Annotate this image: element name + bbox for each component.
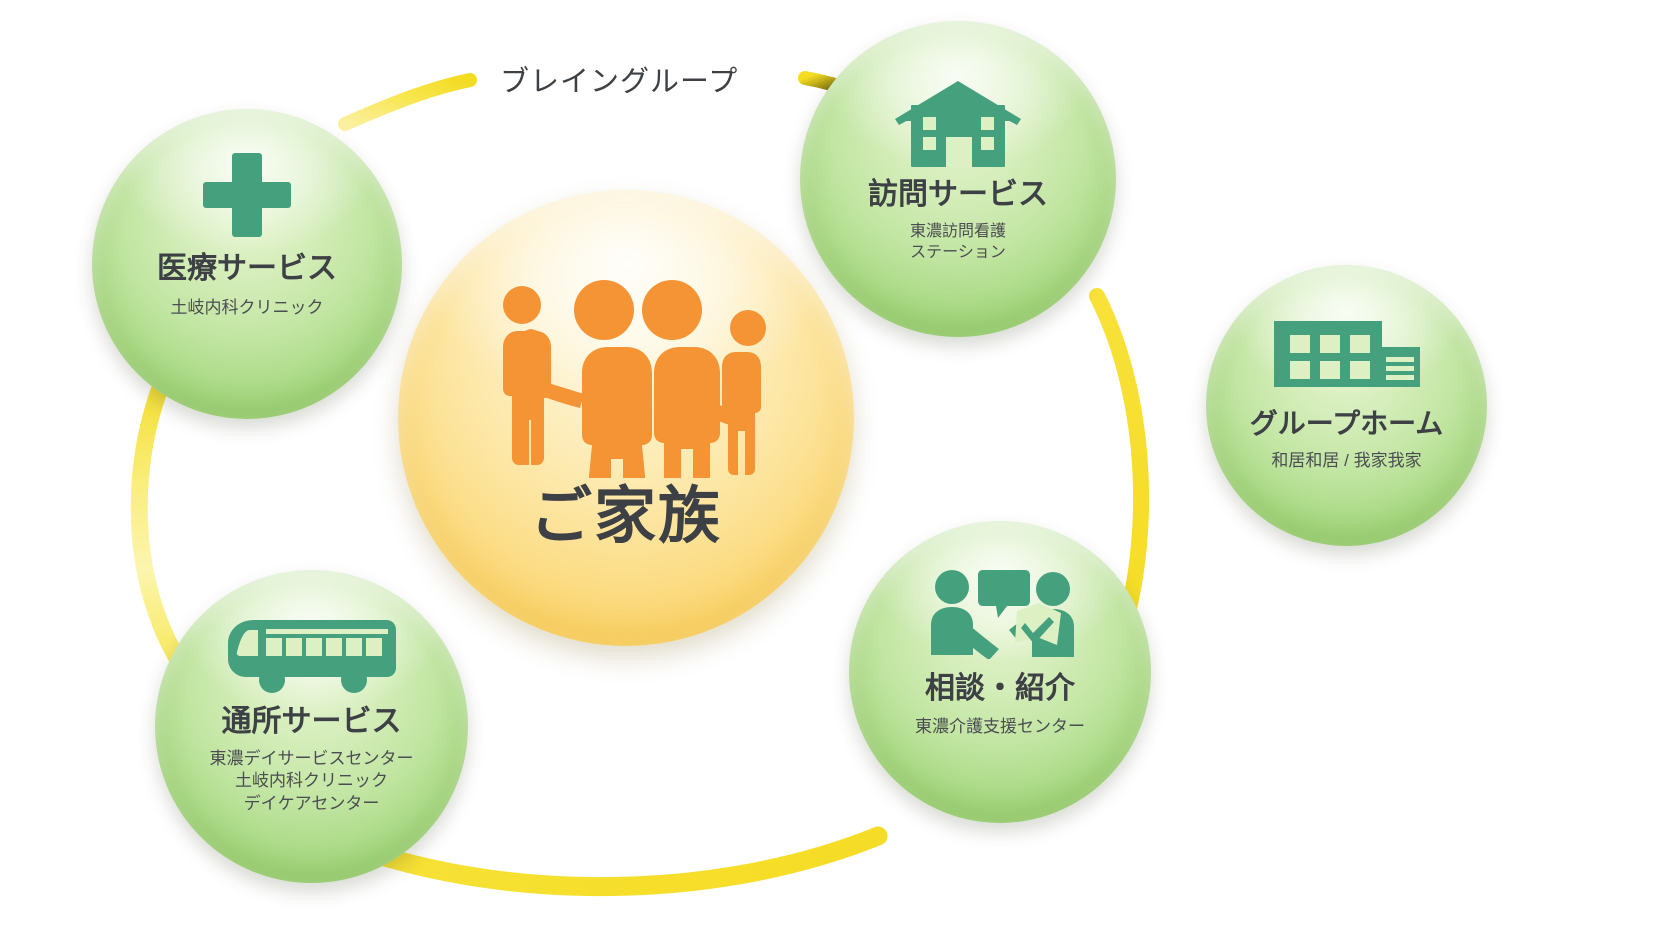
center-bubble-family[interactable]: ご家族	[398, 190, 854, 646]
bubble-grouphome-sub: 和居和居 / 我家我家	[1271, 450, 1421, 472]
consultation-people-icon	[849, 567, 1151, 659]
family-group-icon	[398, 268, 854, 478]
bubble-consult-sub: 東濃介護支援センター	[915, 716, 1085, 738]
center-bubble-title: ご家族	[530, 484, 722, 550]
bubble-daycare[interactable]: 通所サービス 東濃デイサービスセンター 土岐内科クリニック デイケアセンター	[155, 570, 468, 883]
group-label: ブレイングループ	[500, 58, 738, 100]
bubble-grouphome-title: グループホーム	[1250, 409, 1443, 439]
bubble-visit-title: 訪問サービス	[868, 179, 1048, 211]
bubble-grouphome[interactable]: グループホーム 和居和居 / 我家我家	[1206, 265, 1487, 546]
sub-line: 和居和居 / 我家我家	[1271, 450, 1421, 472]
bubble-medical[interactable]: 医療サービス 土岐内科クリニック	[92, 109, 402, 419]
ring-arc-top-left	[345, 80, 470, 124]
sub-line: 東濃訪問看護	[910, 221, 1006, 242]
bubble-consult[interactable]: 相談・紹介 東濃介護支援センター	[849, 521, 1151, 823]
sub-line: 東濃デイサービスセンター	[210, 748, 414, 770]
bubble-medical-sub: 土岐内科クリニック	[171, 297, 324, 319]
bubble-visit[interactable]: 訪問サービス 東濃訪問看護 ステーション	[800, 21, 1116, 337]
medical-cross-icon	[92, 153, 402, 239]
diagram-canvas: ブレイングループ	[0, 0, 1676, 944]
sub-line: 土岐内科クリニック	[171, 297, 324, 319]
building-icon	[1206, 311, 1487, 397]
sub-line: 土岐内科クリニック	[210, 770, 414, 792]
bubble-visit-sub: 東濃訪問看護 ステーション	[910, 221, 1006, 263]
sub-line: 東濃介護支援センター	[915, 716, 1085, 738]
sub-line: デイケアセンター	[210, 793, 414, 815]
bubble-medical-title: 医療サービス	[157, 253, 337, 285]
bus-icon	[155, 608, 468, 694]
bubble-daycare-sub: 東濃デイサービスセンター 土岐内科クリニック デイケアセンター	[210, 748, 414, 815]
bubble-daycare-title: 通所サービス	[222, 706, 402, 738]
sub-line: ステーション	[910, 242, 1006, 263]
bubble-consult-title: 相談・紹介	[925, 673, 1075, 705]
house-icon	[800, 79, 1116, 169]
